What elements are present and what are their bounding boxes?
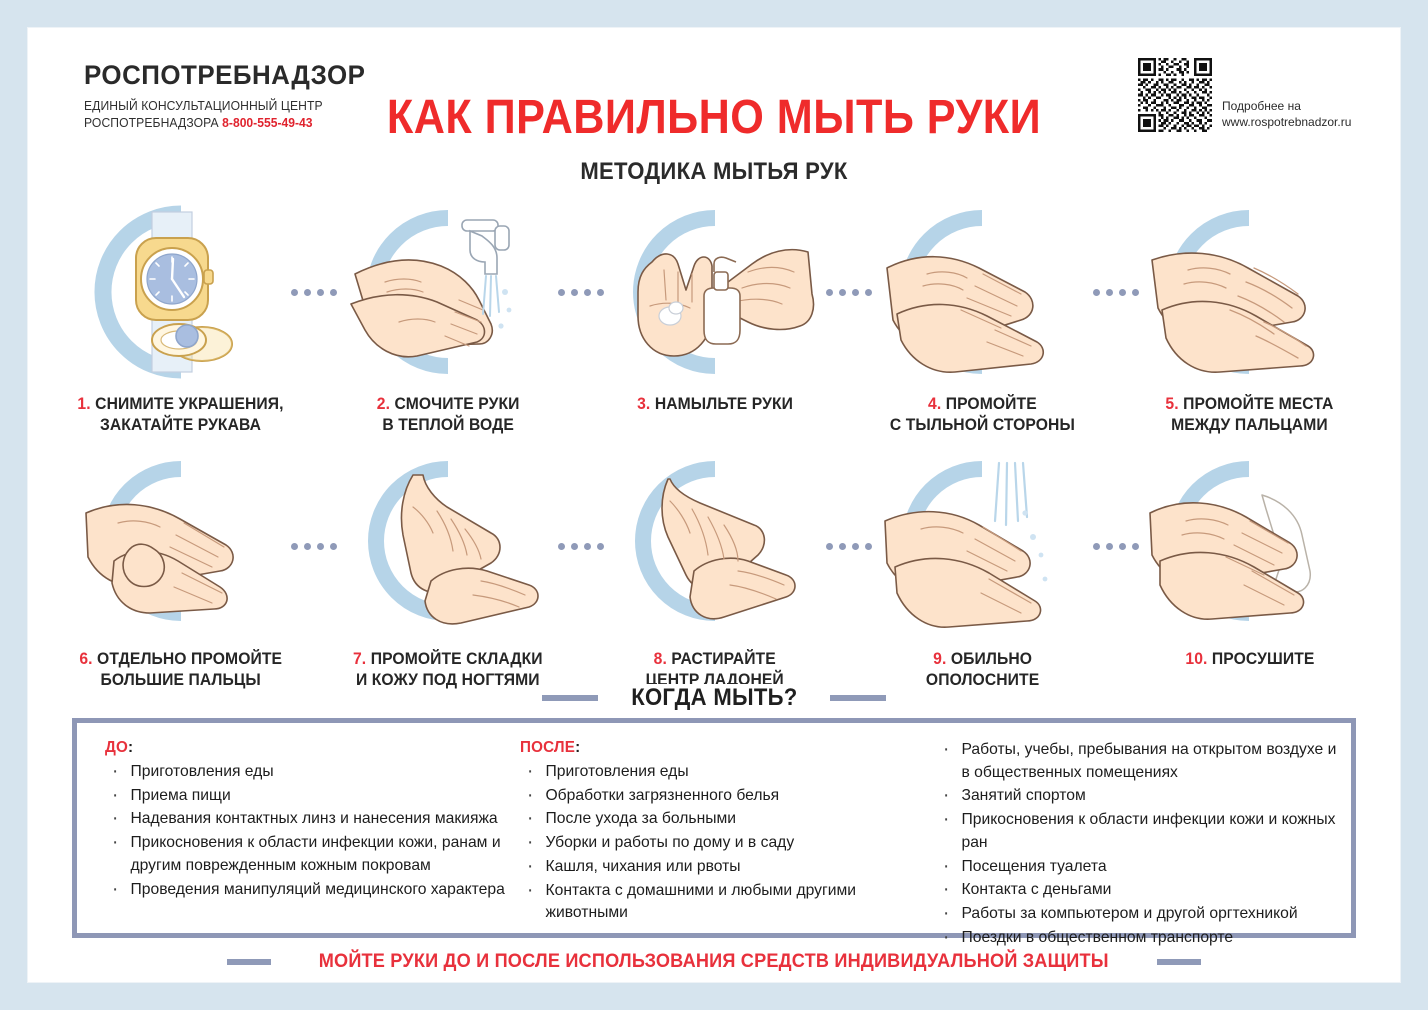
step-7-illustration	[341, 451, 555, 643]
step-5-illustration	[1142, 196, 1356, 388]
step-2-number: 2.	[376, 395, 389, 413]
step-2-line2: В ТЕПЛОЙ ВОДЕ	[382, 416, 514, 434]
palm-over-back-icon	[875, 196, 1089, 388]
step-3-number: 3.	[637, 395, 650, 413]
palm-to-palm-icon	[608, 451, 822, 643]
step-9-number: 9.	[933, 650, 946, 668]
step-6-illustration	[74, 451, 288, 643]
list-item: Работы, учебы, пребывания на открытом во…	[936, 739, 1342, 784]
list-item: Приготовления еды	[105, 761, 511, 784]
after-label-text: ПОСЛЕ	[520, 739, 575, 756]
heading-rule-right	[830, 695, 886, 701]
step-8-illustration	[608, 451, 822, 643]
step-1-line2: ЗАКАТАЙТЕ РУКАВА	[100, 416, 261, 434]
step-5-line1: ПРОМОЙТЕ МЕСТА	[1183, 395, 1333, 413]
after-column: ПОСЛЕ: Приготовления еды Обработки загря…	[520, 739, 937, 933]
list-item: Посещения туалета	[936, 856, 1342, 879]
interlaced-fingers-icon	[1142, 196, 1356, 388]
step-6-line1: ОТДЕЛЬНО ПРОМОЙТЕ	[97, 650, 282, 668]
section-title-method: МЕТОДИКА МЫТЬЯ РУК	[83, 158, 1345, 186]
step-separator-6	[558, 451, 604, 643]
step-7-line1: ПРОМОЙТЕ СКЛАДКИ	[371, 650, 543, 668]
step-4-line2: С ТЫЛЬНОЙ СТОРОНЫ	[890, 416, 1075, 434]
list-item: Прикосновения к области инфекции кожи и …	[936, 809, 1342, 854]
list-item: Приготовления еды	[520, 761, 928, 784]
rinse-under-water-icon	[875, 451, 1089, 643]
nails-in-palm-icon	[341, 451, 555, 643]
step-4: 4. ПРОМОЙТЕ С ТЫЛЬНОЙ СТОРОНЫ	[872, 196, 1093, 437]
step-5: 5. ПРОМОЙТЕ МЕСТА МЕЖДУ ПАЛЬЦАМИ	[1139, 196, 1360, 437]
step-3-caption: 3. НАМЫЛЬТЕ РУКИ	[637, 394, 793, 415]
step-5-line2: МЕЖДУ ПАЛЬЦАМИ	[1171, 416, 1328, 434]
soap-dispenser-icon	[608, 196, 822, 388]
step-1-line1: СНИМИТЕ УКРАШЕНИЯ,	[95, 395, 283, 413]
steps-row-2: 6. ОТДЕЛЬНО ПРОМОЙТЕ БОЛЬШИЕ ПАЛЬЦЫ	[70, 451, 1360, 692]
hands-under-tap-icon	[341, 196, 555, 388]
list-item: Уборки и работы по дому и в саду	[520, 832, 928, 855]
after-label: ПОСЛЕ:	[520, 739, 916, 757]
dry-with-towel-icon	[1142, 451, 1356, 643]
step-8-number: 8.	[654, 650, 667, 668]
step-7-number: 7.	[353, 650, 366, 668]
steps-row-1: 1. СНИМИТЕ УКРАШЕНИЯ, ЗАКАТАЙТЕ РУКАВА	[70, 196, 1360, 437]
footer-rule-right	[1157, 959, 1201, 965]
before-list: Приготовления еды Приема пищи Надевания …	[105, 761, 520, 901]
steps-grid: 1. СНИМИТЕ УКРАШЕНИЯ, ЗАКАТАЙТЕ РУКАВА	[70, 196, 1360, 692]
step-4-line1: ПРОМОЙТЕ	[946, 395, 1037, 413]
thumb-rub-icon	[74, 451, 288, 643]
step-9-illustration	[875, 451, 1089, 643]
step-6: 6. ОТДЕЛЬНО ПРОМОЙТЕ БОЛЬШИЕ ПАЛЬЦЫ	[70, 451, 291, 692]
step-3-line1: НАМЫЛЬТЕ РУКИ	[655, 395, 793, 413]
step-5-number: 5.	[1165, 395, 1178, 413]
qr-caption-line2: www.rospotrebnadzor.ru	[1222, 114, 1351, 130]
step-separator-1	[291, 196, 337, 388]
step-separator-5	[291, 451, 337, 643]
list-item: Поездки в общественном транспорте	[936, 927, 1342, 950]
poster: РОСПОТРЕБНАДЗОР ЕДИНЫЙ КОНСУЛЬТАЦИОННЫЙ …	[28, 28, 1400, 982]
step-1-caption: 1. СНИМИТЕ УКРАШЕНИЯ, ЗАКАТАЙТЕ РУКАВА	[78, 394, 284, 437]
before-label: ДО:	[105, 739, 499, 757]
when-to-wash-heading: КОГДА МЫТЬ?	[622, 684, 807, 712]
when-to-wash-heading-row: КОГДА МЫТЬ?	[28, 684, 1400, 712]
list-item: После ухода за больными	[520, 808, 928, 831]
footer-row: МОЙТЕ РУКИ ДО И ПОСЛЕ ИСПОЛЬЗОВАНИЯ СРЕД…	[28, 950, 1400, 973]
step-3: 3. НАМЫЛЬТЕ РУКИ	[604, 196, 825, 415]
step-1-illustration	[74, 196, 288, 388]
after-list-continued: Работы, учебы, пребывания на открытом во…	[936, 739, 1351, 949]
qr-code-icon	[1138, 58, 1212, 132]
list-item: Обработки загрязненного белья	[520, 785, 928, 808]
footer-rule-left	[227, 959, 271, 965]
watch-and-rings-icon	[74, 196, 288, 388]
before-label-colon: :	[128, 739, 133, 756]
brand-name: РОСПОТРЕБНАДЗОР	[84, 60, 401, 91]
poster-header: РОСПОТРЕБНАДЗОР ЕДИНЫЙ КОНСУЛЬТАЦИОННЫЙ …	[28, 28, 1400, 138]
step-2: 2. СМОЧИТЕ РУКИ В ТЕПЛОЙ ВОДЕ	[337, 196, 558, 437]
step-2-line1: СМОЧИТЕ РУКИ	[394, 395, 519, 413]
qr-caption-line1: Подробнее на	[1222, 98, 1351, 114]
step-separator-7	[826, 451, 872, 643]
when-to-wash-box: ДО: Приготовления еды Приема пищи Надева…	[72, 718, 1356, 938]
list-item: Занятий спортом	[936, 785, 1342, 808]
step-5-caption: 5. ПРОМОЙТЕ МЕСТА МЕЖДУ ПАЛЬЦАМИ	[1165, 394, 1333, 437]
list-item: Надевания контактных линз и нанесения ма…	[105, 808, 511, 831]
step-2-caption: 2. СМОЧИТЕ РУКИ В ТЕПЛОЙ ВОДЕ	[376, 394, 519, 437]
when-to-wash-columns: ДО: Приготовления еды Приема пищи Надева…	[77, 723, 1351, 933]
step-3-illustration	[608, 196, 822, 388]
step-separator-2	[558, 196, 604, 388]
list-item: Приема пищи	[105, 785, 511, 808]
step-9: 9. ОБИЛЬНО ОПОЛОСНИТЕ	[872, 451, 1093, 692]
step-8-line1: РАСТИРАЙТЕ	[672, 650, 776, 668]
step-1: 1. СНИМИТЕ УКРАШЕНИЯ, ЗАКАТАЙТЕ РУКАВА	[70, 196, 291, 437]
step-8: 8. РАСТИРАЙТЕ ЦЕНТР ЛАДОНЕЙ	[604, 451, 825, 692]
step-2-illustration	[341, 196, 555, 388]
step-separator-8	[1093, 451, 1139, 643]
qr-block: Подробнее на www.rospotrebnadzor.ru	[1138, 58, 1351, 132]
list-item: Кашля, чихания или рвоты	[520, 856, 928, 879]
list-item: Контакта с деньгами	[936, 879, 1342, 902]
step-6-number: 6.	[79, 650, 92, 668]
list-item: Прикосновения к области инфекции кожи, р…	[105, 832, 511, 877]
after-label-colon: :	[575, 739, 580, 756]
footer-text: МОЙТЕ РУКИ ДО И ПОСЛЕ ИСПОЛЬЗОВАНИЯ СРЕД…	[319, 950, 1109, 973]
list-item: Контакта с домашними и любыми другими жи…	[520, 880, 928, 925]
step-10-caption: 10. ПРОСУШИТЕ	[1185, 649, 1314, 670]
after-list: Приготовления еды Обработки загрязненног…	[520, 761, 937, 925]
step-10-illustration	[1142, 451, 1356, 643]
after-column-continued: Работы, учебы, пребывания на открытом во…	[936, 739, 1351, 933]
step-4-caption: 4. ПРОМОЙТЕ С ТЫЛЬНОЙ СТОРОНЫ	[890, 394, 1075, 437]
heading-rule-left	[542, 695, 598, 701]
qr-caption: Подробнее на www.rospotrebnadzor.ru	[1222, 98, 1351, 132]
step-10-line1: ПРОСУШИТЕ	[1211, 650, 1313, 668]
step-4-illustration	[875, 196, 1089, 388]
list-item: Работы за компьютером и другой оргтехник…	[936, 903, 1342, 926]
list-item: Проведения манипуляций медицинского хара…	[105, 879, 511, 902]
before-column: ДО: Приготовления еды Приема пищи Надева…	[77, 739, 520, 933]
step-separator-3	[826, 196, 872, 388]
step-7: 7. ПРОМОЙТЕ СКЛАДКИ И КОЖУ ПОД НОГТЯМИ	[337, 451, 558, 692]
step-separator-4	[1093, 196, 1139, 388]
step-4-number: 4.	[928, 395, 941, 413]
before-label-text: ДО	[105, 739, 128, 756]
step-10-number: 10.	[1185, 650, 1207, 668]
step-10: 10. ПРОСУШИТЕ	[1139, 451, 1360, 670]
step-1-number: 1.	[78, 395, 91, 413]
